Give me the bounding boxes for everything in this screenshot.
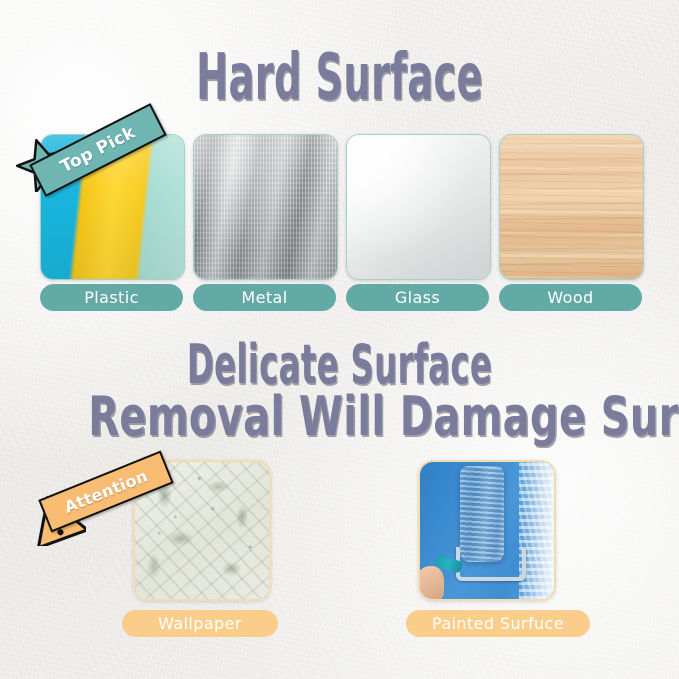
attention-label: Attention bbox=[62, 466, 151, 517]
hard-surface-heading: Hard Surface bbox=[136, 46, 543, 110]
painted-surface-swatch bbox=[420, 462, 554, 599]
infographic-canvas: Hard Surface Plastic Metal Glass Wood To… bbox=[0, 0, 679, 679]
paint-roller-frame-icon bbox=[456, 547, 526, 581]
surface-label-text: Metal bbox=[241, 288, 287, 307]
surface-label-text: Painted Surfuce bbox=[432, 614, 564, 633]
surface-label-text: Plastic bbox=[84, 288, 139, 307]
glass-swatch bbox=[347, 135, 490, 279]
surface-label-glass: Glass bbox=[346, 284, 489, 311]
metal-swatch bbox=[194, 135, 337, 279]
surface-tile-metal[interactable] bbox=[193, 134, 338, 280]
hand-icon bbox=[418, 566, 444, 601]
top-pick-label: Top Pick bbox=[57, 123, 138, 178]
top-pick-badge: Top Pick bbox=[16, 98, 166, 194]
attention-ribbon: Attention bbox=[38, 451, 173, 533]
surface-label-painted: Painted Surfuce bbox=[406, 610, 590, 637]
surface-label-wallpaper: Wallpaper bbox=[122, 610, 278, 637]
surface-label-wood: Wood bbox=[499, 284, 642, 311]
surface-label-text: Wood bbox=[547, 288, 593, 307]
surface-tile-wood[interactable] bbox=[499, 134, 644, 280]
wood-swatch bbox=[500, 135, 643, 279]
attention-badge: Attention bbox=[24, 448, 174, 548]
delicate-surface-heading-line2: Removal Will Damage Surface bbox=[88, 390, 590, 444]
surface-label-text: Glass bbox=[395, 288, 440, 307]
surface-tile-glass[interactable] bbox=[346, 134, 491, 280]
surface-tile-painted[interactable] bbox=[418, 460, 556, 601]
surface-label-plastic: Plastic bbox=[40, 284, 183, 311]
delicate-surface-heading-line1: Delicate Surface bbox=[136, 338, 543, 392]
surface-label-metal: Metal bbox=[193, 284, 336, 311]
surface-label-text: Wallpaper bbox=[158, 614, 242, 633]
